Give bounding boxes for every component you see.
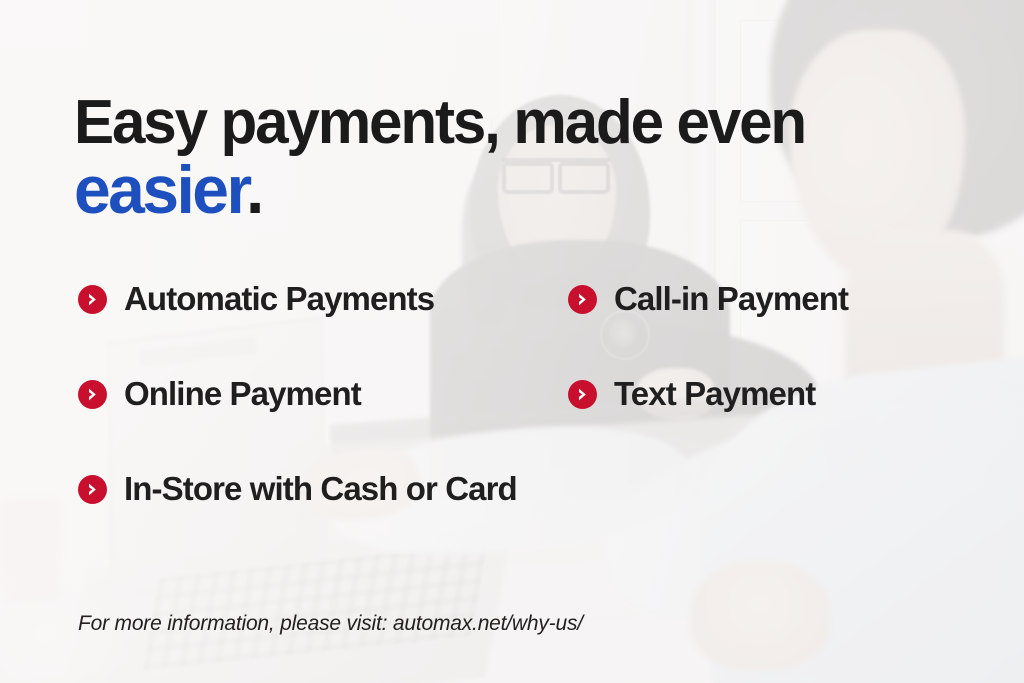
list-item-label: Online Payment	[124, 377, 361, 410]
headline-line-2: easier.	[74, 158, 805, 223]
list-item-label: In-Store with Cash or Card	[124, 472, 517, 505]
headline-accent-word: easier	[74, 152, 246, 228]
promo-banner: Easy payments, made even easier. Automat…	[0, 0, 1024, 683]
list-item-in-store-cash-or-card[interactable]: In-Store with Cash or Card	[78, 472, 568, 505]
list-item-label: Automatic Payments	[124, 282, 434, 315]
chevron-right-circle-icon	[78, 285, 107, 314]
banner-content: Easy payments, made even easier. Automat…	[0, 0, 1024, 683]
payment-options-row: In-Store with Cash or Card	[78, 472, 958, 505]
payment-options-list: Automatic Payments Call-in Payment	[78, 282, 958, 505]
list-item-label: Text Payment	[614, 377, 815, 410]
list-item-call-in-payment[interactable]: Call-in Payment	[568, 282, 848, 315]
footnote-text: For more information, please visit: auto…	[78, 612, 583, 636]
list-item-automatic-payments[interactable]: Automatic Payments	[78, 282, 568, 315]
chevron-right-circle-icon	[78, 475, 107, 504]
payment-options-row: Automatic Payments Call-in Payment	[78, 282, 958, 315]
headline: Easy payments, made even easier.	[74, 94, 805, 223]
list-item-text-payment[interactable]: Text Payment	[568, 377, 815, 410]
headline-line-1: Easy payments, made even	[74, 88, 805, 157]
chevron-right-circle-icon	[78, 380, 107, 409]
chevron-right-circle-icon	[568, 285, 597, 314]
list-item-online-payment[interactable]: Online Payment	[78, 377, 568, 410]
payment-options-row: Online Payment Text Payment	[78, 377, 958, 410]
list-item-label: Call-in Payment	[614, 282, 848, 315]
chevron-right-circle-icon	[568, 380, 597, 409]
headline-period: .	[246, 152, 262, 228]
